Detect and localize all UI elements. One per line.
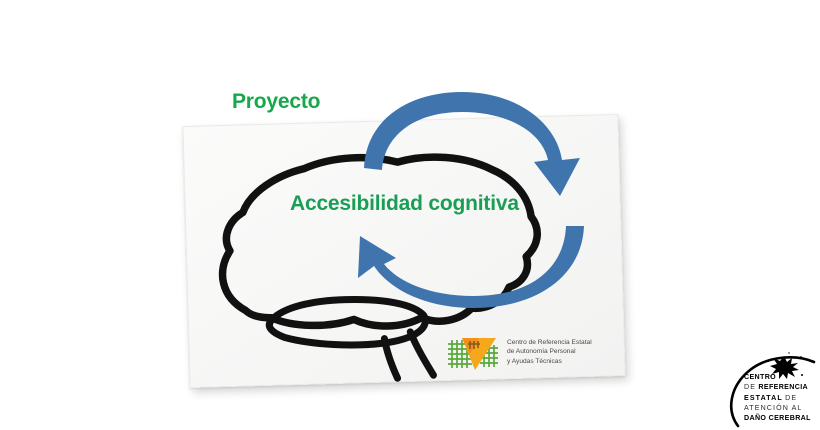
ceapat-grid-triangle-icon xyxy=(446,332,502,372)
ceapat-line-1: Centro de Referencia Estatal xyxy=(507,338,592,347)
ceapat-logo-text: Centro de Referencia Estatal de Autonomí… xyxy=(507,338,592,366)
ceapat-line-3: y Ayudas Técnicas xyxy=(507,357,592,366)
slide-canvas: Proyecto Accesibilidad cognitiva xyxy=(0,0,820,430)
ceapat-line-2: de Autonomía Personal xyxy=(507,347,592,356)
ceapat-logo: Centro de Referencia Estatal de Autonomí… xyxy=(446,332,592,372)
slide-subject-label: Accesibilidad cognitiva xyxy=(290,192,519,216)
